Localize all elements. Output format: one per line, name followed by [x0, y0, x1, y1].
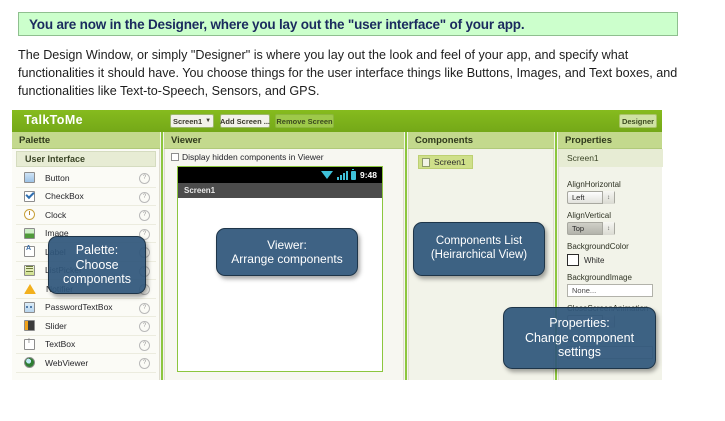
annotation-viewer: Viewer: Arrange components	[216, 228, 358, 276]
property-value-alignvertical: Top	[572, 224, 584, 233]
property-color-backgroundcolor[interactable]: White	[567, 254, 659, 266]
property-select-alignvertical[interactable]: Top ↕	[567, 222, 615, 235]
help-icon[interactable]: ?	[139, 210, 150, 221]
palette-item-webviewer[interactable]: WebViewer ?	[16, 354, 156, 373]
annotation-line: Components List	[436, 235, 522, 249]
screen-selector-button[interactable]: Screen1 ▼	[170, 114, 214, 128]
chevron-down-icon: ▼	[205, 118, 211, 124]
screen-selector-label: Screen1	[173, 117, 202, 126]
slider-icon	[24, 320, 35, 331]
palette-item-label: CheckBox	[45, 191, 84, 201]
checkbox-icon[interactable]	[171, 153, 179, 161]
palette-item-label: TextBox	[45, 339, 75, 349]
help-icon[interactable]: ?	[139, 303, 150, 314]
spinner-icon[interactable]: ↕	[602, 191, 614, 204]
wifi-icon	[321, 171, 333, 179]
property-input-backgroundimage[interactable]: None...	[567, 284, 653, 297]
palette-item-label: PasswordTextBox	[45, 302, 113, 312]
annotation-components: Components List (Heirarchical View)	[413, 222, 545, 276]
annotation-line: Arrange components	[231, 252, 342, 266]
display-hidden-components-row[interactable]: Display hidden components in Viewer	[171, 152, 324, 162]
annotation-line: (Heirarchical View)	[431, 249, 527, 263]
help-icon[interactable]: ?	[139, 173, 150, 184]
listpicker-icon	[24, 265, 35, 276]
screen-node-icon	[422, 158, 430, 167]
signal-icon	[336, 171, 348, 180]
palette-item-slider[interactable]: Slider ?	[16, 317, 156, 336]
palette-item-checkbox[interactable]: CheckBox ?	[16, 188, 156, 207]
annotation-line: Choose	[75, 258, 118, 273]
designer-toggle-button[interactable]: Designer	[619, 114, 657, 128]
palette-item-label: Button	[45, 173, 70, 183]
palette-item-button[interactable]: Button ?	[16, 169, 156, 188]
property-value-backgroundcolor: White	[584, 256, 604, 265]
palette-panel-header: Palette	[12, 132, 160, 149]
palette-item-label: Clock	[45, 210, 66, 220]
viewer-panel-header: Viewer	[164, 132, 404, 149]
property-select-alignhorizontal[interactable]: Left ↕	[567, 191, 615, 204]
help-icon[interactable]: ?	[139, 321, 150, 332]
app-topbar: TalkToMe Screen1 ▼ Add Screen ... Remove…	[12, 110, 662, 132]
help-icon[interactable]: ?	[139, 192, 150, 203]
panel-divider	[405, 132, 407, 380]
help-icon[interactable]: ?	[139, 358, 150, 369]
annotation-properties: Properties: Change component settings	[503, 307, 656, 369]
palette-item-label: Slider	[45, 321, 67, 331]
property-label-backgroundimage: BackgroundImage	[567, 273, 659, 282]
phone-status-bar: 9:48	[178, 167, 382, 183]
textbox-icon	[24, 339, 35, 350]
display-hidden-components-label: Display hidden components in Viewer	[182, 152, 324, 162]
add-screen-button[interactable]: Add Screen ...	[220, 114, 270, 128]
annotation-line: Properties:	[549, 316, 609, 331]
annotation-line: Viewer:	[267, 238, 307, 252]
webviewer-icon	[24, 357, 35, 368]
palette-item-clock[interactable]: Clock ?	[16, 206, 156, 225]
annotation-line: Palette:	[76, 243, 118, 258]
button-icon	[24, 172, 35, 183]
checkbox-icon	[24, 191, 35, 202]
property-label-alignhorizontal: AlignHorizontal	[567, 180, 659, 189]
palette-item-textbox[interactable]: TextBox ?	[16, 336, 156, 355]
app-title: TalkToMe	[24, 113, 83, 127]
phone-canvas[interactable]	[178, 198, 382, 371]
annotation-line: settings	[558, 345, 601, 360]
component-tree-item-screen1[interactable]: Screen1	[418, 155, 473, 169]
spinner-icon[interactable]: ↕	[602, 222, 614, 235]
properties-target-name: Screen1	[559, 149, 663, 167]
remove-screen-button[interactable]: Remove Screen	[275, 114, 334, 128]
palette-section-user-interface[interactable]: User Interface	[16, 151, 156, 167]
property-label-backgroundcolor: BackgroundColor	[567, 242, 659, 251]
properties-panel-header: Properties	[558, 132, 662, 149]
phone-screen-title: Screen1	[178, 183, 382, 198]
lesson-paragraph: The Design Window, or simply "Designer" …	[18, 46, 693, 100]
property-label-alignvertical: AlignVertical	[567, 211, 659, 220]
label-icon	[24, 246, 35, 257]
annotation-palette: Palette: Choose components	[48, 236, 146, 294]
notifier-icon	[24, 284, 36, 294]
color-swatch-icon[interactable]	[567, 254, 579, 266]
lesson-banner: You are now in the Designer, where you l…	[18, 12, 678, 36]
panel-divider	[161, 132, 163, 380]
battery-icon	[351, 171, 356, 180]
annotation-line: components	[63, 272, 131, 287]
tutorial-page: You are now in the Designer, where you l…	[0, 0, 725, 421]
palette-item-passwordtextbox[interactable]: PasswordTextBox ?	[16, 299, 156, 318]
help-icon[interactable]: ?	[139, 340, 150, 351]
component-tree-item-label: Screen1	[434, 157, 466, 167]
status-time: 9:48	[360, 170, 377, 180]
clock-icon	[24, 209, 35, 220]
components-panel-header: Components	[408, 132, 554, 149]
annotation-line: Change component	[525, 331, 634, 346]
password-icon	[24, 302, 35, 313]
image-icon	[24, 228, 35, 239]
palette-item-label: WebViewer	[45, 358, 88, 368]
property-value-alignhorizontal: Left	[572, 193, 585, 202]
